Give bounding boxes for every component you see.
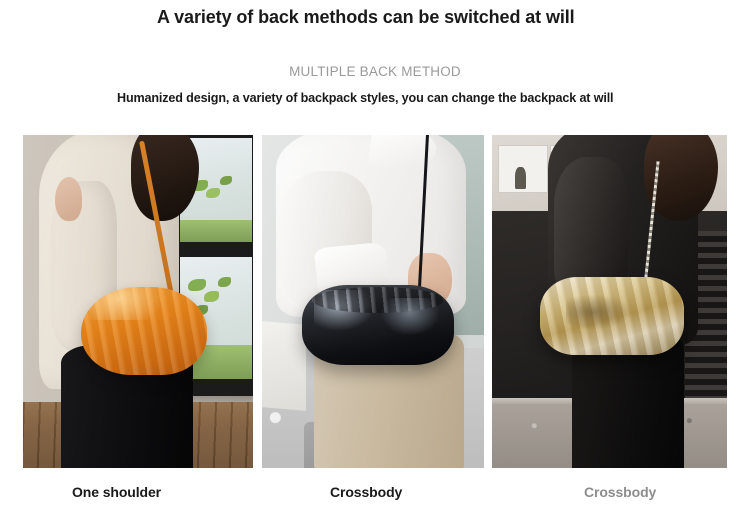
model-hand: [55, 177, 82, 221]
caption-one-shoulder: One shoulder: [72, 484, 161, 500]
page-title: A variety of back methods can be switche…: [157, 6, 617, 30]
foliage-leaf: [218, 277, 231, 287]
photo-scene-crossbody-black: [262, 135, 484, 468]
gold-cloud-bag: [540, 277, 684, 355]
gallery-photo-crossbody-gold[interactable]: [492, 135, 727, 468]
photo-scene-one-shoulder: [23, 135, 253, 468]
section-eyebrow: MULTIPLE BACK METHOD: [0, 64, 750, 79]
caption-crossbody-black: Crossbody: [330, 484, 402, 500]
section-description: Humanized design, a variety of backpack …: [117, 90, 667, 108]
caption-crossbody-gold: Crossbody: [584, 484, 656, 500]
foliage-leaf: [206, 188, 220, 198]
bag-ruching: [312, 287, 444, 313]
black-cloud-bag: [302, 285, 454, 365]
orange-cloud-bag: [81, 287, 207, 375]
artwork-figure: [515, 167, 526, 189]
grass-strip: [180, 220, 252, 242]
white-slab: [262, 321, 306, 411]
foliage-leaf: [220, 176, 232, 185]
gallery-photo-one-shoulder[interactable]: [23, 135, 253, 468]
gallery-photo-crossbody-black[interactable]: [262, 135, 484, 468]
gallery-captions: One shoulder Crossbody Crossbody: [0, 484, 750, 514]
framed-artwork: [498, 145, 548, 193]
photo-scene-crossbody-gold: [492, 135, 727, 468]
product-gallery: [0, 135, 750, 468]
